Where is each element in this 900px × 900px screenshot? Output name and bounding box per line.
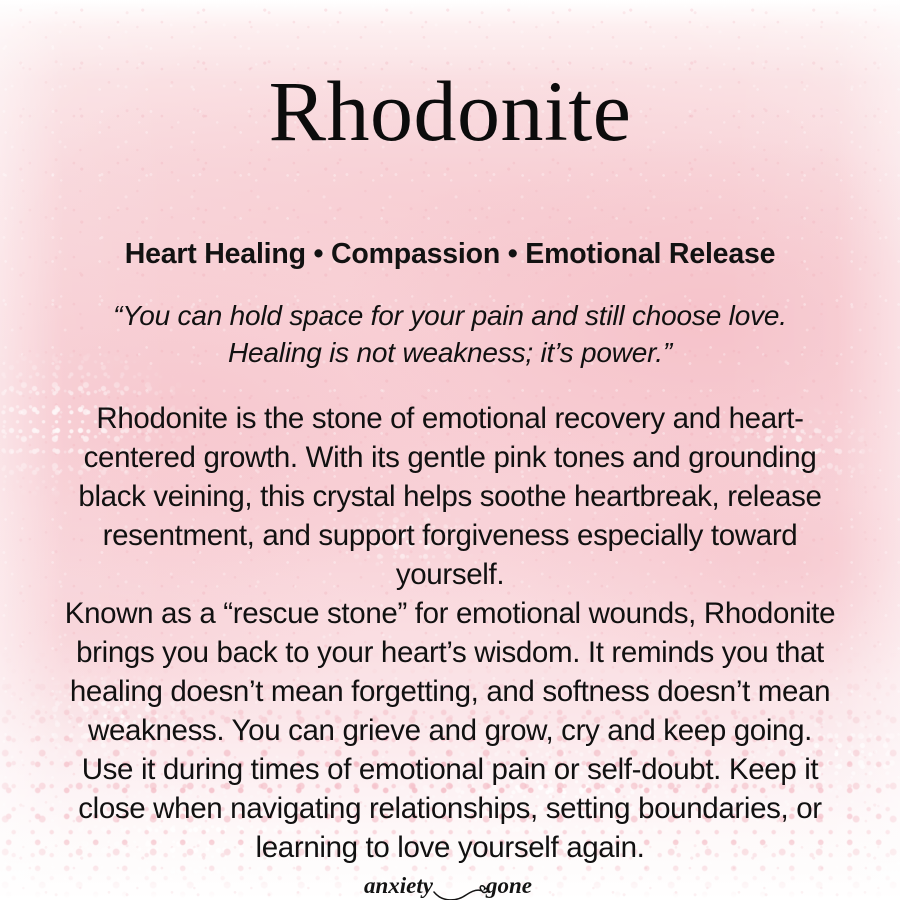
keyword-subtitle: Heart Healing • Compassion • Emotional R…	[125, 238, 776, 271]
body-paragraph: Rhodonite is the stone of emotional reco…	[50, 399, 850, 594]
brand-word-anxiety: anxiety	[364, 873, 434, 898]
description-body: Rhodonite is the stone of emotional reco…	[50, 399, 850, 867]
body-paragraph: Known as a “rescue stone” for emotional …	[50, 594, 850, 750]
card-content: Rhodonite Heart Healing • Compassion • E…	[0, 0, 900, 900]
brand-word-gone: gone	[485, 873, 532, 898]
page-title: Rhodonite	[269, 68, 632, 154]
crystal-info-card: Rhodonite Heart Healing • Compassion • E…	[0, 0, 900, 900]
brand-logo-mark: anxiety gone	[360, 867, 540, 900]
brand-logo: anxiety gone	[360, 867, 540, 900]
body-paragraph: Use it during times of emotional pain or…	[50, 750, 850, 867]
heart-swash-icon	[434, 886, 487, 900]
affirmation-quote: “You can hold space for your pain and st…	[65, 297, 835, 371]
